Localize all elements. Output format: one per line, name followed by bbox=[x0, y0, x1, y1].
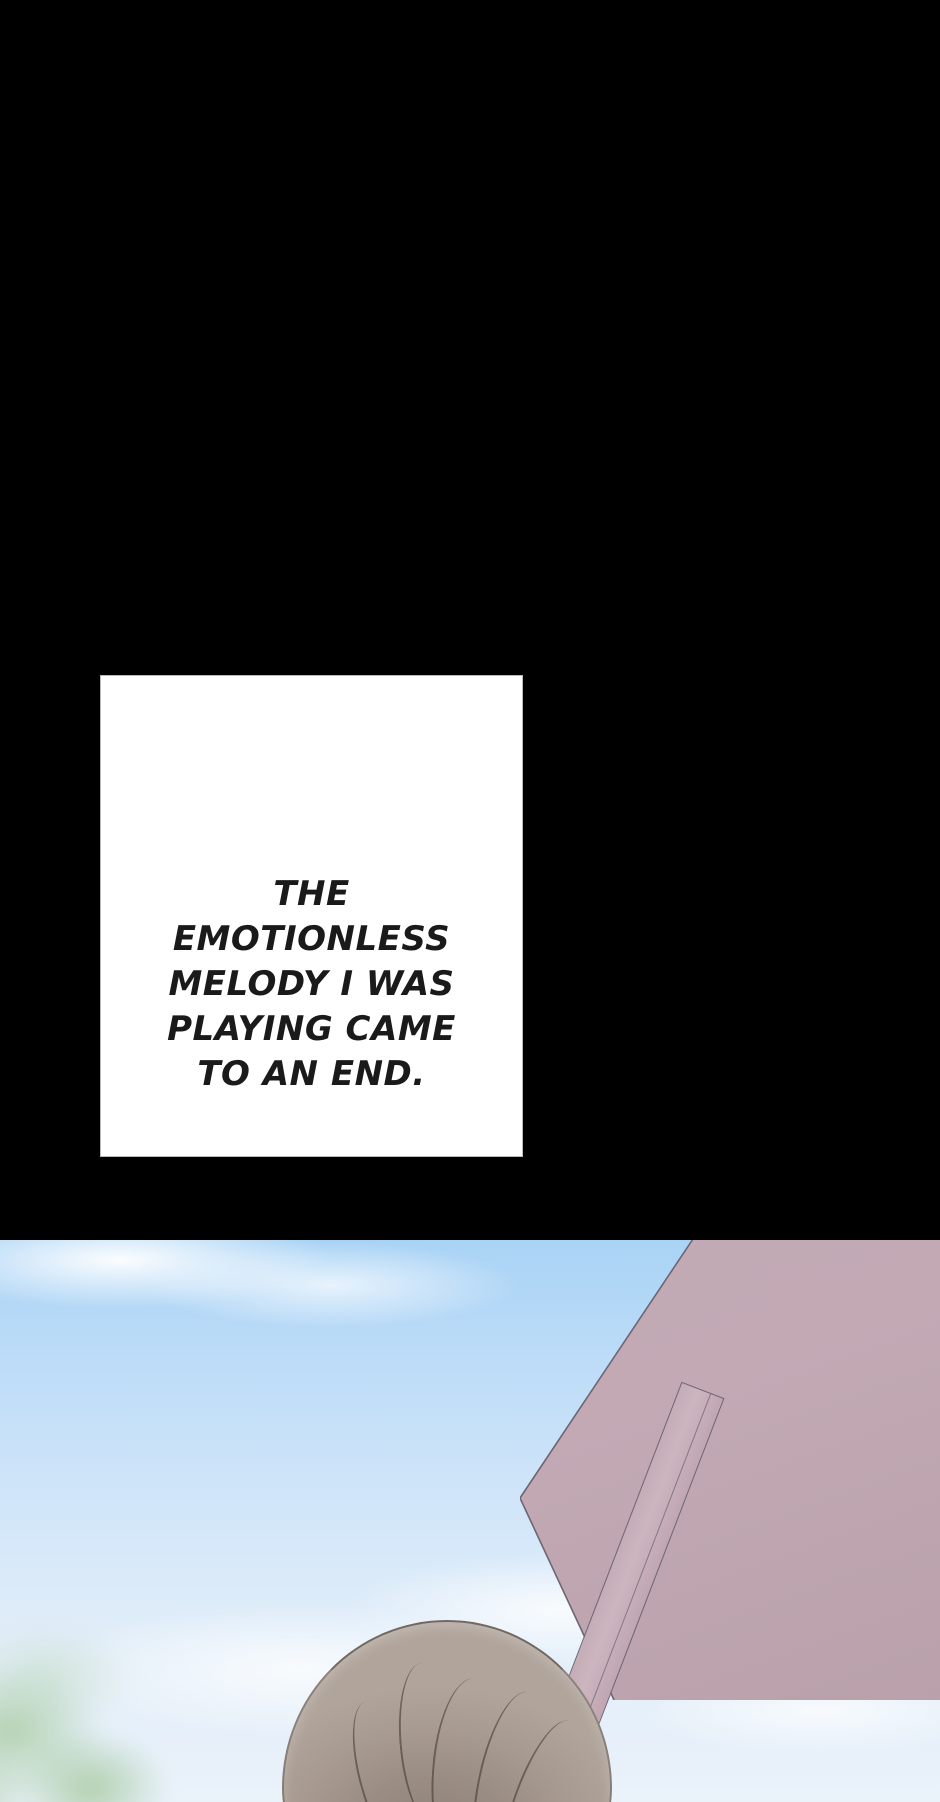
caption-text: THE EMOTIONLESS MELODY I WAS PLAYING CAM… bbox=[101, 872, 522, 1097]
caption-line-2: EMOTIONLESS bbox=[101, 917, 522, 962]
caption-line-5: TO AN END. bbox=[101, 1052, 522, 1097]
caption-line-1: THE bbox=[101, 872, 522, 917]
foliage-blur bbox=[0, 1582, 240, 1802]
comic-page: THE EMOTIONLESS MELODY I WAS PLAYING CAM… bbox=[0, 0, 940, 1802]
illustration-panel bbox=[0, 1240, 940, 1802]
caption-box: THE EMOTIONLESS MELODY I WAS PLAYING CAM… bbox=[100, 675, 523, 1157]
caption-line-3: MELODY I WAS bbox=[101, 962, 522, 1007]
caption-line-4: PLAYING CAME bbox=[101, 1007, 522, 1052]
